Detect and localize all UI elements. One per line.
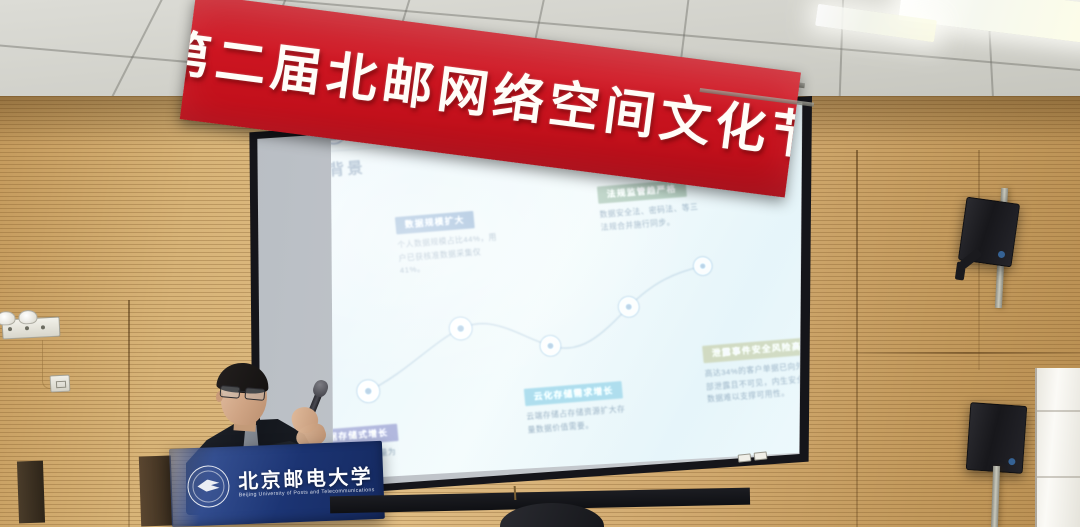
callout-tag: 法规监管趋严格 [597, 180, 687, 205]
callout-tag: 数据规模扩大 [395, 211, 475, 235]
wall-seam-mid [856, 150, 858, 527]
wall-seam-left [128, 300, 130, 527]
callout-tag: 云化存储需求增长 [524, 381, 624, 407]
screen-label-2 [754, 451, 768, 460]
callout-cloud-share: 云化存储需求增长 云端存储占存储资源扩大存量数据价值需要。 [524, 378, 634, 436]
podium: 北京邮电大学 Beijing University of Posts and T… [169, 441, 385, 527]
wall-socket[interactable] [50, 374, 71, 392]
callout-breach-risk: 泄露事件安全风险高 高达34%的客户单据已向外部泄露且不可见，内生安全数据难以支… [702, 335, 812, 406]
emergency-light [2, 316, 61, 339]
podium-leg-right [139, 455, 173, 526]
door-panel[interactable] [1035, 368, 1080, 527]
podium-leg-left [17, 461, 45, 524]
screen-label-1 [738, 453, 752, 462]
wall-speaker-right [968, 404, 1025, 472]
wall-speaker-left [962, 200, 1016, 264]
scene-root: 网络空间安全学院 School of Cyberspace Security 背… [0, 0, 1080, 527]
callout-data-scale: 数据规模扩大 个人数据规模占比44%，用户已获核准数据采集仅41%。 [395, 207, 507, 278]
wall-seam-horizontal [856, 352, 1080, 354]
